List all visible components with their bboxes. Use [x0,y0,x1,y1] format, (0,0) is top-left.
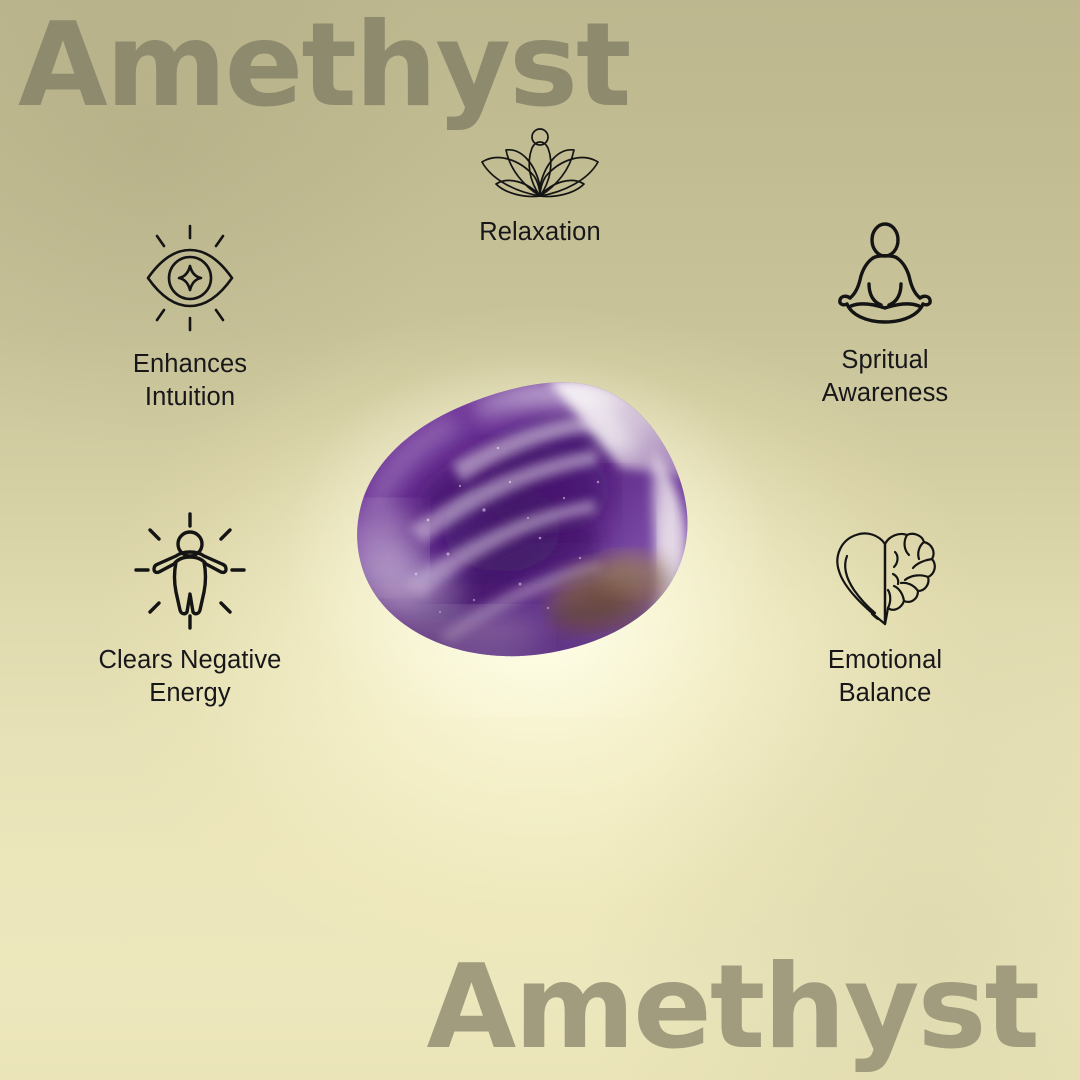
benefit-clears-negative-energy: Clears Negative Energy [65,512,315,709]
benefit-label: Emotional Balance [828,644,942,709]
page-title-top: Amethyst [18,8,629,124]
benefit-spiritual-awareness: Spritual Awareness [760,222,1010,409]
radiant-eye-icon [130,222,250,334]
meditating-figure-icon [829,222,941,330]
amethyst-stone-image [352,378,708,666]
benefit-emotional-balance: Emotional Balance [760,530,1010,709]
benefit-intuition: Enhances Intuition [65,222,315,413]
radiant-person-icon [130,512,250,630]
page-title-bottom: Amethyst [427,950,1038,1066]
benefit-relaxation: Relaxation [415,122,665,249]
poster-canvas: Amethyst Relaxation [0,0,1080,1080]
heart-brain-icon [829,530,941,630]
benefit-label: Enhances Intuition [133,348,247,413]
lotus-flower-icon [476,122,604,202]
benefit-label: Clears Negative Energy [99,644,282,709]
benefit-label: Relaxation [479,216,601,249]
benefit-label: Spritual Awareness [822,344,949,409]
amethyst-stone [352,378,708,666]
